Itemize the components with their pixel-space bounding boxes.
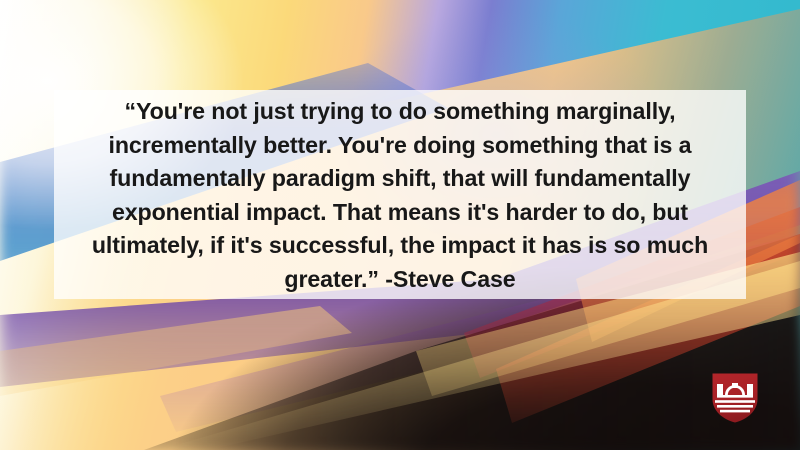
shield-crest-logo: [711, 372, 759, 424]
quote-graphic: “You're not just trying to do something …: [0, 0, 800, 450]
shield-body: [713, 374, 758, 423]
quote-card: “You're not just trying to do something …: [54, 90, 746, 299]
quote-text: “You're not just trying to do something …: [92, 95, 708, 296]
